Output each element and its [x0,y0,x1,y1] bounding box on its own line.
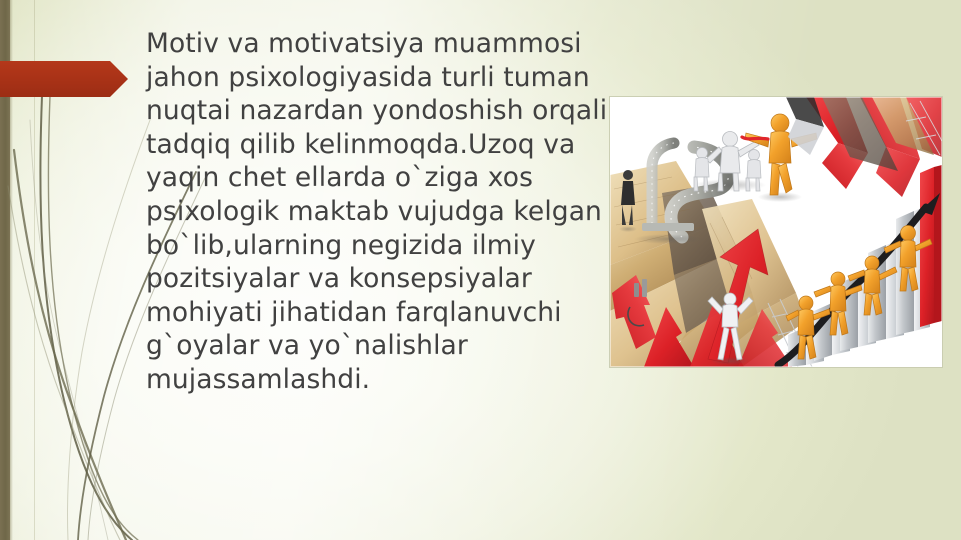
red-arrow-banner [0,61,128,97]
motivation-success-collage[interactable] [610,97,942,367]
body-paragraph: Motiv va motivatsiya muammosi jahon psix… [146,27,614,397]
slide-canvas: Motiv va motivatsiya muammosi jahon psix… [0,0,961,540]
